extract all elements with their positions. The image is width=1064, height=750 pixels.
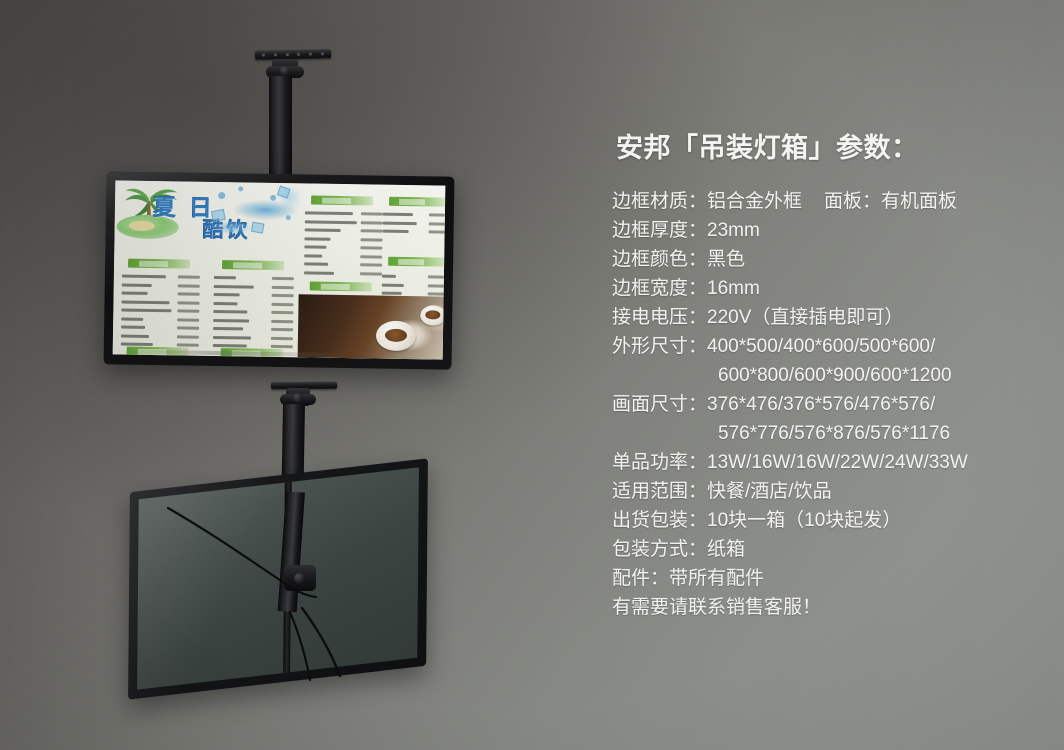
pivot-bolt-lower — [293, 393, 303, 403]
menu-row — [383, 219, 445, 227]
menu-section-rows — [304, 209, 383, 278]
menu-section-title — [389, 197, 445, 207]
menu-row — [122, 290, 200, 298]
menu-section-title — [128, 259, 190, 269]
drop-pole-upper — [269, 76, 292, 180]
spec-label: 画面尺寸： — [612, 394, 707, 415]
spec-label: 边框厚度： — [612, 220, 707, 241]
spec-line-picture-size: 画面尺寸：376*476/376*576/476*576/ — [612, 390, 1042, 419]
menu-row — [214, 274, 294, 282]
spec-line-accessories: 配件：带所有配件 — [612, 564, 1042, 593]
menu-row — [304, 243, 382, 251]
spec-extra-label: 面板： — [824, 191, 881, 212]
headline-char-1: 夏 — [153, 197, 176, 220]
rear-pivot-knuckle — [284, 565, 316, 591]
menu-row — [305, 226, 383, 234]
spec-label: 边框颜色： — [612, 249, 707, 270]
spec-value: 黑色 — [707, 249, 745, 270]
spec-label: 适用范围： — [612, 481, 707, 502]
menu-row — [213, 325, 293, 333]
menu-panel-face: 夏 日 酷 饮 — [113, 180, 446, 359]
spec-line-frame-width: 边框宽度：16mm — [612, 274, 1042, 303]
spec-value: 10块一箱（10块起发） — [707, 510, 901, 531]
spec-value: 400*500/400*600/500*600/ — [707, 336, 935, 357]
spec-label: 出货包装： — [612, 510, 707, 531]
menu-row — [122, 281, 200, 289]
light-box-rear-view — [128, 458, 428, 700]
spec-value: 16mm — [707, 278, 760, 299]
menu-row — [304, 269, 382, 277]
menu-artwork: 夏 日 酷 饮 — [113, 180, 446, 359]
spec-line-outer-size: 外形尺寸：400*500/400*600/500*600/ — [612, 332, 1042, 361]
menu-row — [121, 324, 199, 332]
spec-line-contact: 有需要请联系销售客服！ — [612, 593, 1042, 622]
menu-row — [121, 332, 199, 340]
spec-label: 边框宽度： — [612, 278, 707, 299]
spec-line-application: 适用范围：快餐/酒店/饮品 — [612, 477, 1042, 506]
spec-line-power: 单品功率：13W/16W/16W/22W/24W/33W — [612, 448, 1042, 477]
menu-row — [304, 252, 382, 260]
menu-section-rows — [383, 211, 445, 237]
spec-value: 376*476/376*576/476*576/ — [707, 394, 935, 415]
menu-row — [304, 260, 382, 268]
rear-face-left — [137, 467, 419, 689]
spec-panel: 安邦「吊装灯箱」参数： 边框材质：铝合金外框面板：有机面板 边框厚度：23mm … — [612, 126, 1042, 622]
menu-row — [214, 291, 294, 299]
spec-extra-value: 有机面板 — [881, 191, 957, 212]
spec-line-frame-material: 边框材质：铝合金外框面板：有机面板 — [612, 187, 1042, 216]
spec-label: 边框材质： — [612, 191, 707, 212]
menu-section-title — [310, 281, 372, 291]
spec-label: 包装方式： — [612, 539, 707, 560]
spec-line-shipping-package: 出货包装：10块一箱（10块起发） — [612, 506, 1042, 535]
spec-label: 外形尺寸： — [612, 336, 707, 357]
menu-row — [382, 281, 444, 289]
coffee-photo — [297, 295, 443, 360]
menu-row — [383, 211, 445, 219]
menu-row — [382, 273, 444, 281]
menu-row — [305, 218, 383, 226]
spec-label: 接电电压： — [612, 307, 707, 328]
spec-line-picture-size-cont: 576*776/576*876/576*1176 — [612, 419, 1042, 448]
menu-row — [305, 209, 383, 217]
spec-line-frame-thickness: 边框厚度：23mm — [612, 216, 1042, 245]
menu-row — [213, 333, 293, 341]
menu-row — [213, 308, 293, 316]
spec-label: 单品功率： — [612, 452, 707, 473]
pivot-bolt-upper — [280, 66, 290, 76]
spec-value: 13W/16W/16W/22W/24W/33W — [707, 452, 968, 473]
spec-label: 配件： — [612, 568, 669, 589]
menu-section-rows — [213, 274, 294, 352]
menu-row — [122, 273, 200, 281]
spec-value: 铝合金外框 — [707, 191, 802, 212]
menu-row — [213, 299, 293, 307]
menu-header-graphic: 夏 日 酷 饮 — [114, 180, 306, 253]
spec-line-frame-color: 边框颜色：黑色 — [612, 245, 1042, 274]
menu-row — [383, 228, 445, 236]
menu-row — [121, 307, 199, 315]
coffee-cup-back — [420, 305, 445, 325]
menu-section-title — [311, 195, 373, 205]
water-splash-graphic — [208, 184, 305, 246]
product-photo-canvas: 夏 日 酷 饮 — [0, 0, 1064, 750]
menu-section-title — [388, 257, 444, 267]
menu-section-title — [222, 260, 284, 270]
spec-line-outer-size-cont: 600*800/600*900/600*1200 — [612, 361, 1042, 390]
spec-title: 安邦「吊装灯箱」参数： — [616, 126, 1042, 165]
menu-row — [121, 298, 199, 306]
illuminated-menu-light-box: 夏 日 酷 饮 — [104, 171, 455, 369]
spec-value: 纸箱 — [707, 539, 745, 560]
spec-value: 快餐/酒店/饮品 — [707, 481, 832, 502]
spec-value: 220V（直接插电即可） — [707, 307, 903, 328]
menu-row — [213, 316, 293, 324]
menu-section-rows — [121, 273, 200, 351]
coffee-cup-front — [376, 321, 416, 352]
menu-row — [304, 235, 382, 243]
spec-value: 23mm — [707, 220, 760, 241]
spec-line-voltage: 接电电压：220V（直接插电即可） — [612, 303, 1042, 332]
menu-section-rows — [382, 273, 444, 299]
menu-row — [214, 282, 294, 290]
spec-line-packing-method: 包装方式：纸箱 — [612, 535, 1042, 564]
menu-row — [121, 315, 199, 323]
spec-value: 带所有配件 — [669, 568, 764, 589]
